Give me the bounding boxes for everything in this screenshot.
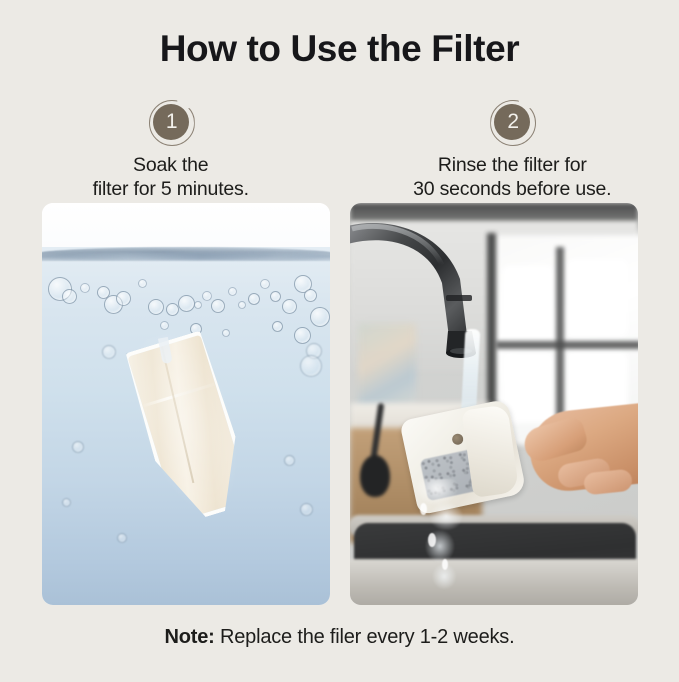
step-2-number: 2 [507, 111, 519, 132]
bubble [282, 299, 297, 314]
water-drop [420, 503, 427, 515]
steps-header-row: 1 Soak the filter for 5 minutes. 2 Rinse… [0, 100, 679, 201]
step-1: 1 Soak the filter for 5 minutes. [0, 100, 338, 201]
step-2: 2 Rinse the filter for 30 seconds before… [338, 100, 679, 201]
bubble [304, 289, 317, 302]
step-1-image [42, 203, 330, 605]
step-2-caption: Rinse the filter for 30 seconds before u… [413, 153, 611, 201]
sink-rim [350, 559, 638, 605]
bubble [310, 307, 330, 327]
bubble [166, 303, 179, 316]
bubble [178, 295, 195, 312]
water-splash [412, 479, 474, 595]
bubble [211, 299, 225, 313]
bubble [117, 533, 127, 543]
bubble [194, 301, 202, 309]
step-1-caption: Soak the filter for 5 minutes. [93, 153, 249, 201]
step-2-caption-line1: Rinse the filter for [413, 153, 611, 177]
bubble [222, 329, 230, 337]
bubble [228, 287, 237, 296]
note-text: Note: Replace the filer every 1-2 weeks. [0, 624, 679, 650]
faucet-neck [350, 223, 468, 345]
bubble [80, 283, 90, 293]
bubble [260, 279, 270, 289]
water-drop [442, 559, 448, 570]
bubble [148, 299, 164, 315]
bubble [300, 503, 313, 516]
bubble [284, 455, 295, 466]
bubble [116, 291, 131, 306]
image-cards [42, 203, 638, 605]
page-title: How to Use the Filter [0, 27, 679, 71]
kitchen-sink [350, 501, 638, 605]
note-label: Note: [165, 626, 215, 648]
air-above-water [42, 203, 330, 252]
water-surface-highlight [42, 253, 330, 260]
infographic-page: How to Use the Filter 1 Soak the filter … [0, 0, 679, 682]
step-2-caption-line2: 30 seconds before use. [413, 177, 611, 201]
step-1-number: 1 [166, 111, 178, 132]
step-2-badge: 2 [490, 100, 534, 144]
step-1-badge: 1 [149, 100, 193, 144]
bubble [270, 291, 281, 302]
step-1-caption-line1: Soak the [93, 153, 249, 177]
note-body: Replace the filer every 1-2 weeks. [215, 626, 515, 648]
bubble [300, 355, 322, 377]
bubble [248, 293, 260, 305]
step-2-image [350, 203, 638, 605]
step-1-caption-line2: filter for 5 minutes. [93, 177, 249, 201]
bubble [202, 291, 212, 301]
bubble [72, 441, 84, 453]
bubble [294, 327, 311, 344]
bubble [62, 289, 77, 304]
hand [500, 399, 638, 514]
bubble [138, 279, 147, 288]
bubble [160, 321, 169, 330]
bubble [238, 301, 246, 309]
hand-finger [583, 469, 633, 496]
bubble [272, 321, 283, 332]
bubble [62, 498, 71, 507]
water-drop [428, 533, 436, 547]
